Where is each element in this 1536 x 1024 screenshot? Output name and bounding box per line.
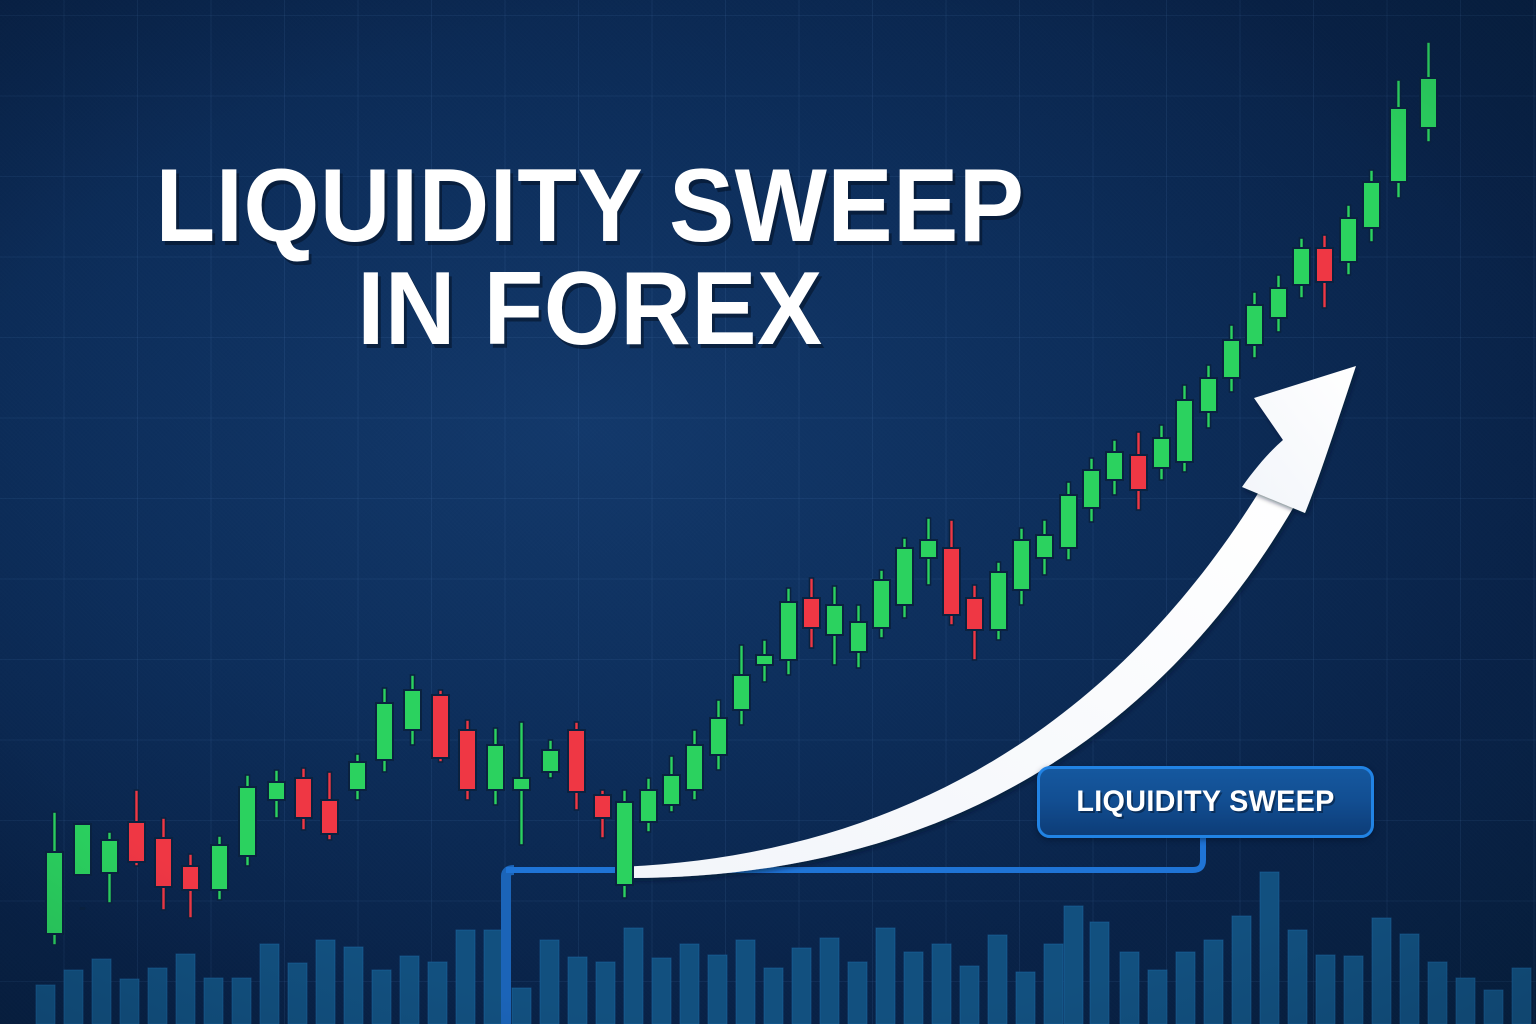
- candlestick-up: [920, 518, 937, 585]
- candlestick-down: [594, 790, 611, 838]
- candlestick-down: [459, 720, 476, 800]
- candlestick-up: [1293, 238, 1310, 298]
- candlestick-up: [487, 728, 504, 805]
- candlestick-up: [756, 640, 773, 682]
- volume-bar: [1428, 962, 1447, 1024]
- volume-bar: [372, 970, 391, 1024]
- volume-bar: [512, 988, 531, 1024]
- volume-bar: [708, 955, 727, 1024]
- candlestick-up: [990, 562, 1007, 640]
- volume-bar: [736, 940, 755, 1024]
- candlestick-up: [850, 605, 867, 668]
- candlestick-up: [239, 775, 256, 866]
- candlestick-up: [349, 754, 366, 800]
- candlestick-up: [1036, 520, 1053, 575]
- volume-bar: [988, 935, 1007, 1024]
- volume-bar: [1344, 956, 1363, 1024]
- volume-bar: [792, 948, 811, 1024]
- candlestick-down: [155, 818, 172, 910]
- candlestick-up: [826, 586, 843, 665]
- volume-bar: [400, 956, 419, 1024]
- candlestick-up: [1013, 528, 1030, 605]
- volume-bars: [36, 872, 1531, 1024]
- candlestick-up: [1246, 292, 1263, 358]
- candlestick-up: [733, 645, 750, 725]
- volume-bar: [316, 940, 335, 1024]
- volume-bar: [624, 928, 643, 1024]
- candlestick-down: [943, 520, 960, 625]
- volume-bar: [1176, 952, 1195, 1024]
- candlestick-up: [211, 836, 228, 900]
- candlestick-up: [268, 770, 285, 818]
- volume-bar: [876, 928, 895, 1024]
- candlestick-up: [896, 538, 913, 618]
- volume-bar: [36, 985, 55, 1024]
- candlestick-up: [1270, 275, 1287, 332]
- volume-bar: [260, 944, 279, 1024]
- candlestick-up: [1340, 205, 1357, 275]
- candlestick-down: [803, 578, 820, 648]
- candlestick-up: [1363, 170, 1380, 242]
- candlestick-up: [101, 832, 118, 903]
- volume-bar: [484, 930, 503, 1024]
- volume-bar: [92, 959, 111, 1024]
- candlestick-down: [321, 772, 338, 840]
- volume-bar: [204, 978, 223, 1024]
- volume-bar: [456, 930, 475, 1024]
- candlestick-up: [663, 756, 680, 812]
- volume-bar: [1204, 940, 1223, 1024]
- forex-infographic: LIQUIDITY SWEEP IN FOREX LIQUIDITY SWEEP: [0, 0, 1536, 1024]
- volume-bar: [120, 979, 139, 1024]
- volume-bar: [1288, 930, 1307, 1024]
- volume-bar: [764, 968, 783, 1024]
- volume-bar: [1260, 872, 1279, 1024]
- candlestick-up: [1153, 425, 1170, 480]
- volume-bar: [1512, 968, 1531, 1024]
- volume-bar: [1372, 918, 1391, 1024]
- candlestick-down: [1316, 235, 1333, 308]
- candlestick-down: [182, 854, 199, 918]
- volume-bar: [1090, 922, 1109, 1024]
- candlestick-up: [710, 700, 727, 770]
- volume-bar: [596, 962, 615, 1024]
- volume-bar: [848, 962, 867, 1024]
- volume-bar: [1400, 934, 1419, 1024]
- volume-bar: [1316, 955, 1335, 1024]
- candlestick-up: [640, 778, 657, 832]
- volume-bar: [1064, 906, 1083, 1024]
- volume-bar: [1484, 990, 1503, 1024]
- volume-bar: [344, 947, 363, 1024]
- volume-bar: [288, 963, 307, 1024]
- candlestick-up: [46, 812, 63, 945]
- candlestick-up: [1200, 365, 1217, 428]
- candlestick-up: [873, 570, 890, 638]
- candlestick-up: [513, 722, 530, 845]
- candlestick-down: [128, 790, 145, 866]
- candlestick-up: [542, 740, 559, 778]
- candlestick-down: [568, 722, 585, 810]
- volume-bar: [932, 944, 951, 1024]
- volume-bar: [1456, 978, 1475, 1024]
- volume-bar: [1148, 970, 1167, 1024]
- candlestick-up: [780, 588, 797, 675]
- candlestick-up: [1223, 325, 1240, 392]
- volume-bar: [540, 940, 559, 1024]
- volume-bar: [904, 952, 923, 1024]
- volume-bar: [428, 962, 447, 1024]
- volume-bar: [232, 978, 251, 1024]
- volume-bar: [1120, 952, 1139, 1024]
- candlestick-up: [1083, 458, 1100, 522]
- candlestick-up: [376, 688, 393, 772]
- candlestick-up: [1060, 482, 1077, 560]
- candlestick-up: [74, 824, 91, 909]
- volume-bar: [1232, 916, 1251, 1024]
- candlestick-chart: [0, 0, 1536, 1024]
- candlestick-up: [1390, 80, 1407, 198]
- volume-bar: [568, 957, 587, 1024]
- candlestick-up: [686, 730, 703, 800]
- volume-bar: [960, 966, 979, 1024]
- liquidity-sweep-badge-label: LIQUIDITY SWEEP: [1076, 785, 1334, 819]
- candlestick-down: [1130, 432, 1147, 510]
- candlestick-up: [1420, 42, 1437, 142]
- liquidity-sweep-badge[interactable]: LIQUIDITY SWEEP: [1037, 766, 1374, 838]
- candlestick-up: [1176, 385, 1193, 472]
- candlestick-up: [1106, 440, 1123, 495]
- candlestick-up: [404, 675, 421, 745]
- volume-bar: [820, 938, 839, 1024]
- candlestick-down: [432, 690, 449, 762]
- volume-bar: [680, 944, 699, 1024]
- volume-bar: [148, 968, 167, 1024]
- volume-bar: [1016, 972, 1035, 1024]
- candlestick-up: [616, 790, 633, 898]
- volume-bar: [176, 954, 195, 1024]
- volume-bar: [1044, 944, 1063, 1024]
- candlestick-down: [295, 768, 312, 830]
- volume-bar: [652, 958, 671, 1024]
- candlestick-down: [966, 585, 983, 660]
- volume-bar: [64, 970, 83, 1024]
